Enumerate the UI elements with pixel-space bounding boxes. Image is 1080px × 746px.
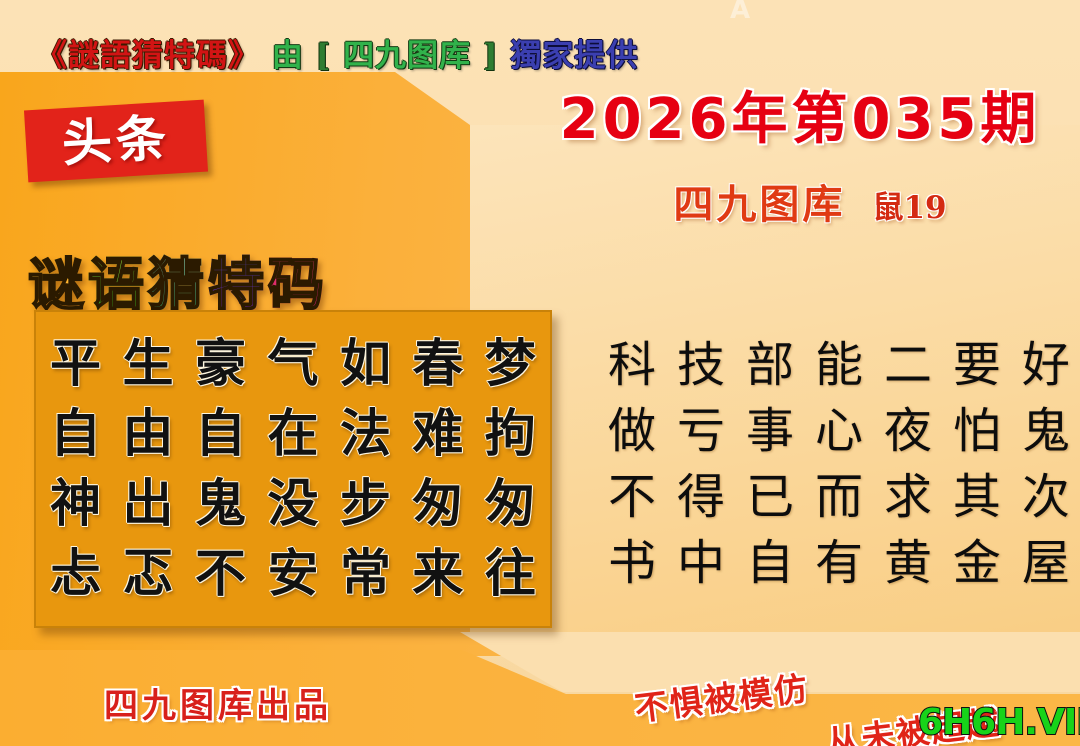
riddle-char: 忐: [50, 540, 101, 610]
riddle-char: 豪: [195, 330, 246, 400]
verse-char: 不: [608, 464, 656, 530]
verse-line: 科 技 部 能 二 要 好: [608, 332, 1070, 398]
verse-char: 能: [815, 332, 863, 398]
rainbow-char-5: 码: [268, 240, 328, 321]
verse-char: 做: [608, 398, 656, 464]
verse-char: 科: [608, 332, 656, 398]
verse-char: 心: [815, 398, 863, 464]
riddle-char: 平: [50, 330, 101, 400]
header-tagline: 《謎語猜特碼》 由 [ 四九图库 ] 獨家提供: [36, 30, 638, 75]
verse-char: 求: [884, 464, 932, 530]
verse-line: 做 亏 事 心 夜 怕 鬼: [608, 398, 1070, 464]
riddle-char: 匆: [485, 470, 536, 540]
riddle-char: 匆: [412, 470, 463, 540]
verse-line: 不 得 已 而 求 其 次: [608, 464, 1070, 530]
rainbow-headline: 谜语猜特码: [28, 240, 328, 321]
riddle-line: 神 出 鬼 没 步 匆 匆: [50, 470, 536, 540]
riddle-char: 法: [340, 400, 391, 470]
verse-char: 书: [608, 530, 656, 596]
riddle-char: 难: [412, 400, 463, 470]
verse-char: 其: [953, 464, 1001, 530]
rainbow-char-3: 猜: [148, 240, 208, 321]
riddle-char: 梦: [485, 330, 536, 400]
verse-char: 中: [677, 530, 725, 596]
verse-char: 屋: [1022, 530, 1070, 596]
riddle-char: 不: [195, 540, 246, 610]
riddle-char: 来: [412, 540, 463, 610]
riddle-line: 自 由 自 在 法 难 拘: [50, 400, 536, 470]
verse-char: 鬼: [1022, 398, 1070, 464]
riddle-line: 忐 忑 不 安 常 来 往: [50, 540, 536, 610]
riddle-char: 鬼: [195, 470, 246, 540]
verse-char: 自: [746, 530, 794, 596]
header-by-text: 由: [272, 30, 304, 75]
verse-char: 技: [677, 332, 725, 398]
top-watermark: A: [722, 0, 756, 22]
riddle-char: 出: [122, 470, 173, 540]
verse-char: 好: [1022, 332, 1070, 398]
riddle-char: 生: [122, 330, 173, 400]
verse-char: 部: [746, 332, 794, 398]
header-site-name: 四九图库: [343, 30, 471, 75]
rainbow-char-4: 特: [208, 240, 268, 321]
verse-char: 怕: [953, 398, 1001, 464]
verse-line: 书 中 自 有 黄 金 屋: [608, 530, 1070, 596]
verse-char: 而: [815, 464, 863, 530]
headline-badge-label: 头条: [61, 113, 172, 169]
rainbow-char-2: 语: [88, 240, 148, 321]
riddle-char: 往: [485, 540, 536, 610]
riddle-char: 神: [50, 470, 101, 540]
riddle-char: 气: [267, 330, 318, 400]
verse-char: 二: [884, 332, 932, 398]
riddle-char: 自: [50, 400, 101, 470]
site-watermark: 6H6H.VIP: [918, 702, 1080, 743]
riddle-char: 忑: [122, 540, 173, 610]
rainbow-char-1: 谜: [28, 240, 88, 321]
riddle-char: 自: [195, 400, 246, 470]
verse-char: 次: [1022, 464, 1070, 530]
riddle-char: 春: [412, 330, 463, 400]
riddle-box: 平 生 豪 气 如 春 梦 自 由 自 在 法 难 拘 神 出 鬼 没 步 匆 …: [34, 310, 552, 628]
verse-column: 科 技 部 能 二 要 好 做 亏 事 心 夜 怕 鬼 不 得 已 而 求 其 …: [608, 332, 1070, 596]
verse-char: 已: [746, 464, 794, 530]
header-title-text: 《謎語猜特碼》: [36, 30, 260, 75]
issue-title: 2026年第035期: [540, 74, 1060, 155]
verse-char: 要: [953, 332, 1001, 398]
verse-char: 得: [677, 464, 725, 530]
brand-row: 四九图库 鼠19: [560, 172, 1060, 230]
verse-char: 黄: [884, 530, 932, 596]
header-bracket-close: ]: [483, 38, 499, 74]
verse-char: 有: [815, 530, 863, 596]
footer-producer-text: 四九图库出品: [104, 678, 332, 727]
riddle-char: 由: [122, 400, 173, 470]
zodiac-label: 鼠19: [872, 182, 946, 227]
verse-char: 亏: [677, 398, 725, 464]
header-bracket-open: [: [316, 38, 332, 74]
riddle-char: 没: [267, 470, 318, 540]
riddle-char: 如: [340, 330, 391, 400]
brand-name: 四九图库: [673, 181, 845, 228]
riddle-line: 平 生 豪 气 如 春 梦: [50, 330, 536, 400]
riddle-char: 常: [340, 540, 391, 610]
riddle-char: 步: [340, 470, 391, 540]
verse-char: 夜: [884, 398, 932, 464]
poster-canvas: A 《謎語猜特碼》 由 [ 四九图库 ] 獨家提供 头条 2026年第035期 …: [0, 0, 1080, 746]
verse-char: 金: [953, 530, 1001, 596]
riddle-char: 安: [267, 540, 318, 610]
header-exclusive-text: 獨家提供: [510, 30, 638, 75]
verse-char: 事: [746, 398, 794, 464]
headline-badge: 头条: [24, 100, 208, 183]
riddle-char: 在: [267, 400, 318, 470]
riddle-char: 拘: [485, 400, 536, 470]
